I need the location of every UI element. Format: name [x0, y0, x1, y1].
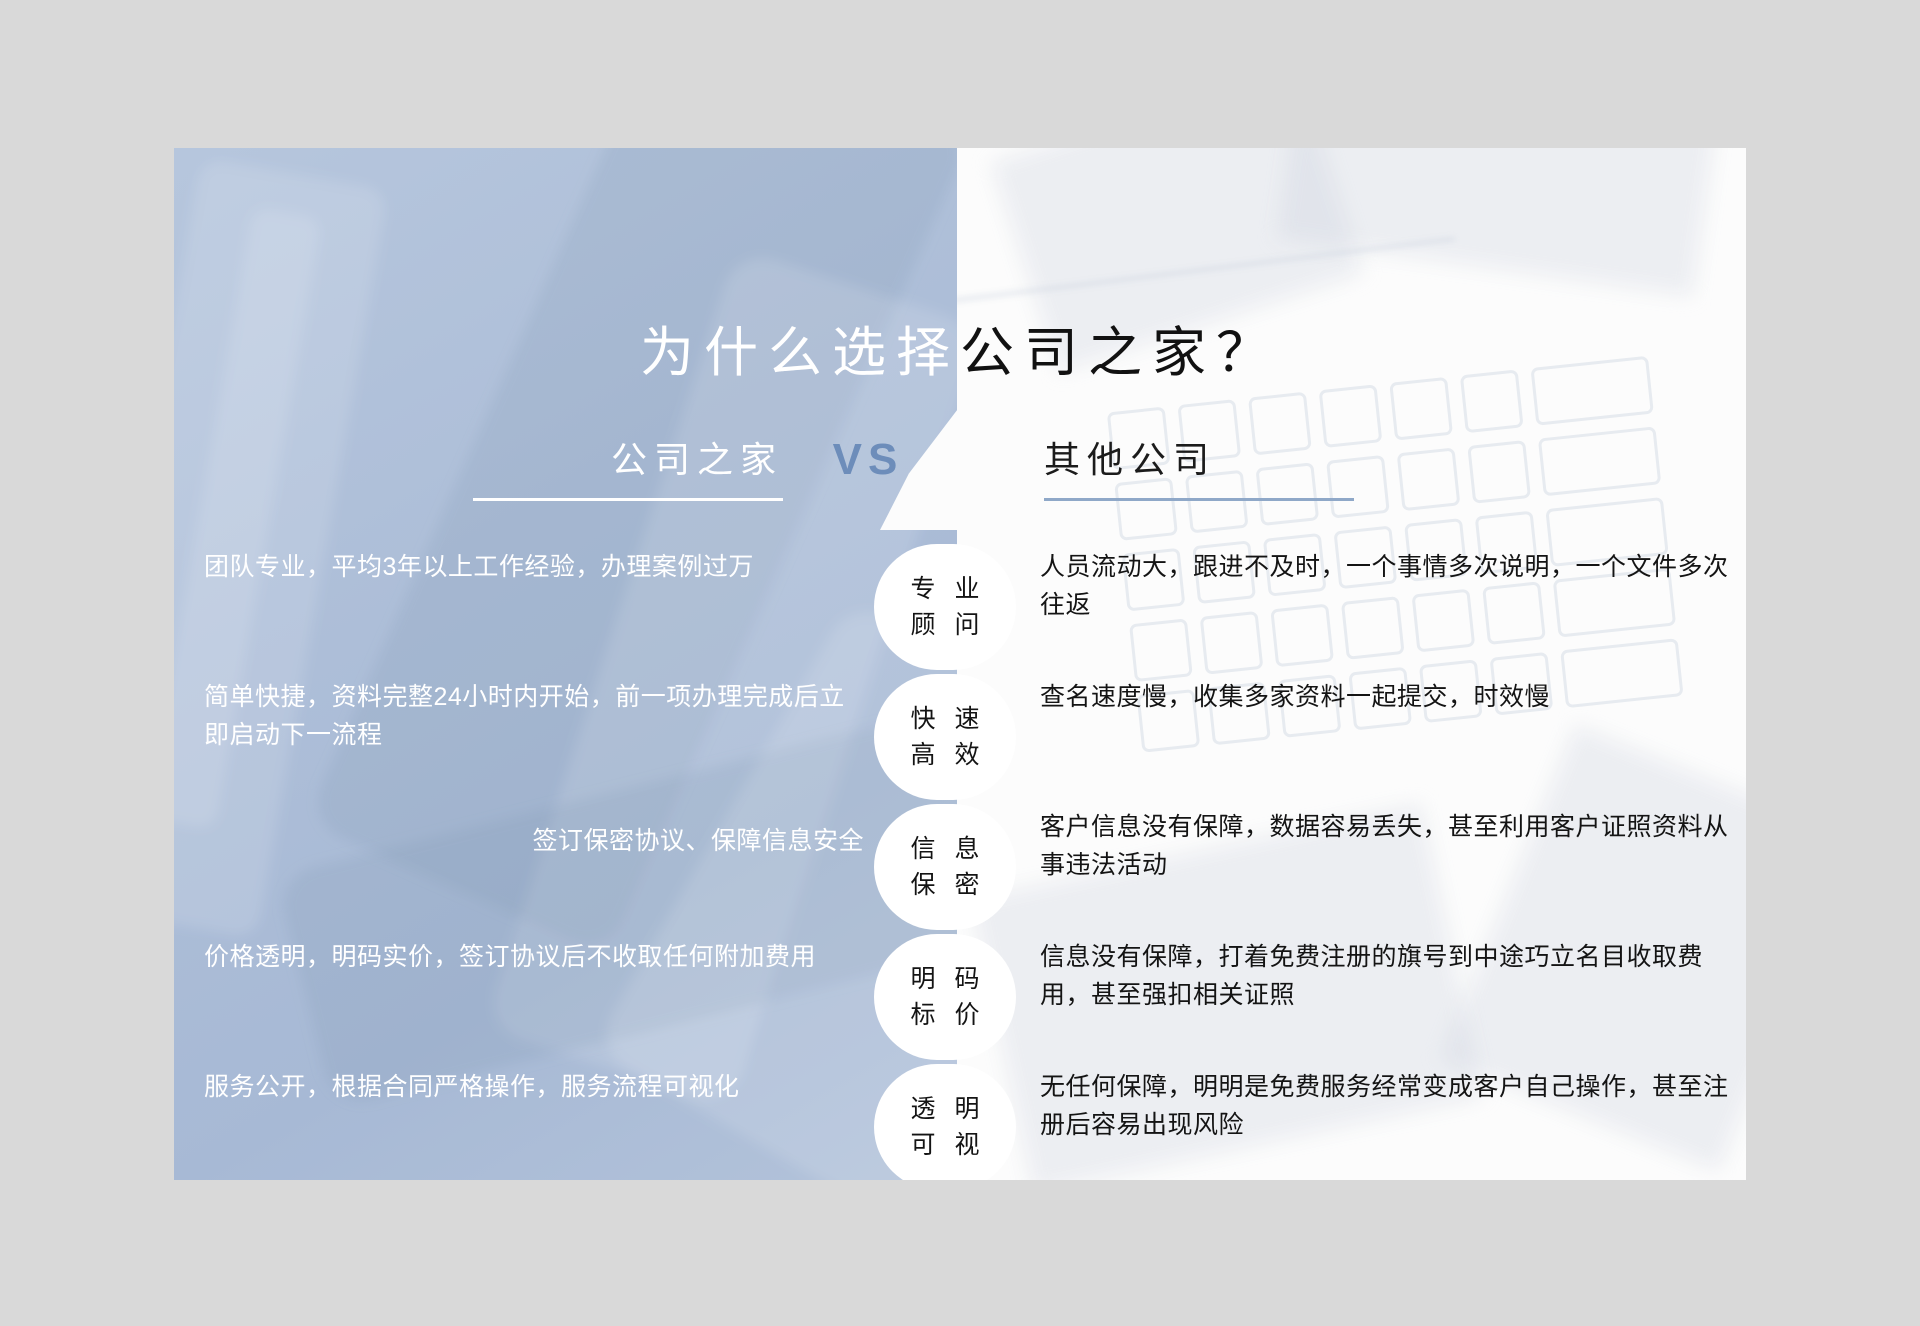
row-ours-text: 价格透明，明码实价，签订协议后不收取任何附加费用 — [204, 938, 864, 976]
brand-theirs: 其他公司 — [954, 428, 1514, 501]
vs-header-row: 公司之家 VS 其他公司 — [174, 428, 1746, 514]
row-category-line2: 高 效 — [905, 737, 986, 773]
row-ours-text: 签订保密协议、保障信息安全 — [204, 808, 864, 860]
row-theirs-text: 客户信息没有保障，数据容易丢失，甚至利用客户证照资料从事违法活动 — [1040, 808, 1730, 884]
row-category-line1: 明 码 — [905, 961, 986, 997]
brand-theirs-underline — [1044, 498, 1354, 501]
row-category-line1: 专 业 — [905, 571, 986, 607]
row-category-line2: 保 密 — [905, 867, 986, 903]
row-category-line1: 快 速 — [905, 701, 986, 737]
comparison-row: 团队专业，平均3年以上工作经验，办理案例过万 专 业 顾 问 人员流动大，跟进不… — [174, 548, 1746, 666]
row-category-badge: 快 速 高 效 — [874, 674, 1016, 800]
comparison-row: 服务公开，根据合同严格操作，服务流程可视化 透 明 可 视 无任何保障，明明是免… — [174, 1068, 1746, 1180]
row-category-badge: 信 息 保 密 — [874, 804, 1016, 930]
row-category-line1: 信 息 — [905, 831, 986, 867]
row-category-line1: 透 明 — [905, 1091, 986, 1127]
row-ours-text: 服务公开，根据合同严格操作，服务流程可视化 — [204, 1068, 864, 1106]
row-category-badge: 明 码 标 价 — [874, 934, 1016, 1060]
brand-ours: 公司之家 — [174, 428, 783, 501]
row-theirs-text: 无任何保障，明明是免费服务经常变成客户自己操作，甚至注册后容易出现风险 — [1040, 1068, 1730, 1144]
comparison-card: 为什么选择公司之家？ 公司之家 VS 其他公司 团队专业，平均3年以上工作经验，… — [174, 148, 1746, 1180]
row-ours-text: 团队专业，平均3年以上工作经验，办理案例过万 — [204, 548, 864, 586]
row-category-badge: 透 明 可 视 — [874, 1064, 1016, 1180]
row-theirs-text: 信息没有保障，打着免费注册的旗号到中途巧立名目收取费用，甚至强扣相关证照 — [1040, 938, 1730, 1014]
comparison-row: 简单快捷，资料完整24小时内开始，前一项办理完成后立即启动下一流程 快 速 高 … — [174, 678, 1746, 796]
page-title-left: 为什么选择 — [640, 323, 960, 383]
row-category-badge: 专 业 顾 问 — [874, 544, 1016, 670]
comparison-row: 价格透明，明码实价，签订协议后不收取任何附加费用 明 码 标 价 信息没有保障，… — [174, 938, 1746, 1056]
row-theirs-text: 查名速度慢，收集多家资料一起提交，时效慢 — [1040, 678, 1730, 716]
slide-canvas: 为什么选择公司之家？ 公司之家 VS 其他公司 团队专业，平均3年以上工作经验，… — [0, 0, 1920, 1326]
row-theirs-text: 人员流动大，跟进不及时，一个事情多次说明，一个文件多次往返 — [1040, 548, 1730, 624]
page-title: 为什么选择公司之家？ — [174, 324, 1746, 383]
page-title-right: 公司之家？ — [960, 323, 1280, 383]
row-category-line2: 顾 问 — [905, 607, 986, 643]
comparison-row: 签订保密协议、保障信息安全 信 息 保 密 客户信息没有保障，数据容易丢失，甚至… — [174, 808, 1746, 926]
row-ours-text: 简单快捷，资料完整24小时内开始，前一项办理完成后立即启动下一流程 — [204, 678, 864, 754]
brand-ours-label: 公司之家 — [611, 439, 783, 480]
row-category-line2: 可 视 — [905, 1127, 986, 1163]
comparison-rows: 团队专业，平均3年以上工作经验，办理案例过万 专 业 顾 问 人员流动大，跟进不… — [174, 548, 1746, 1180]
vs-mark: VS — [782, 428, 954, 492]
row-category-line2: 标 价 — [905, 997, 986, 1033]
brand-theirs-label: 其他公司 — [1044, 439, 1216, 480]
brand-ours-underline — [473, 498, 783, 501]
